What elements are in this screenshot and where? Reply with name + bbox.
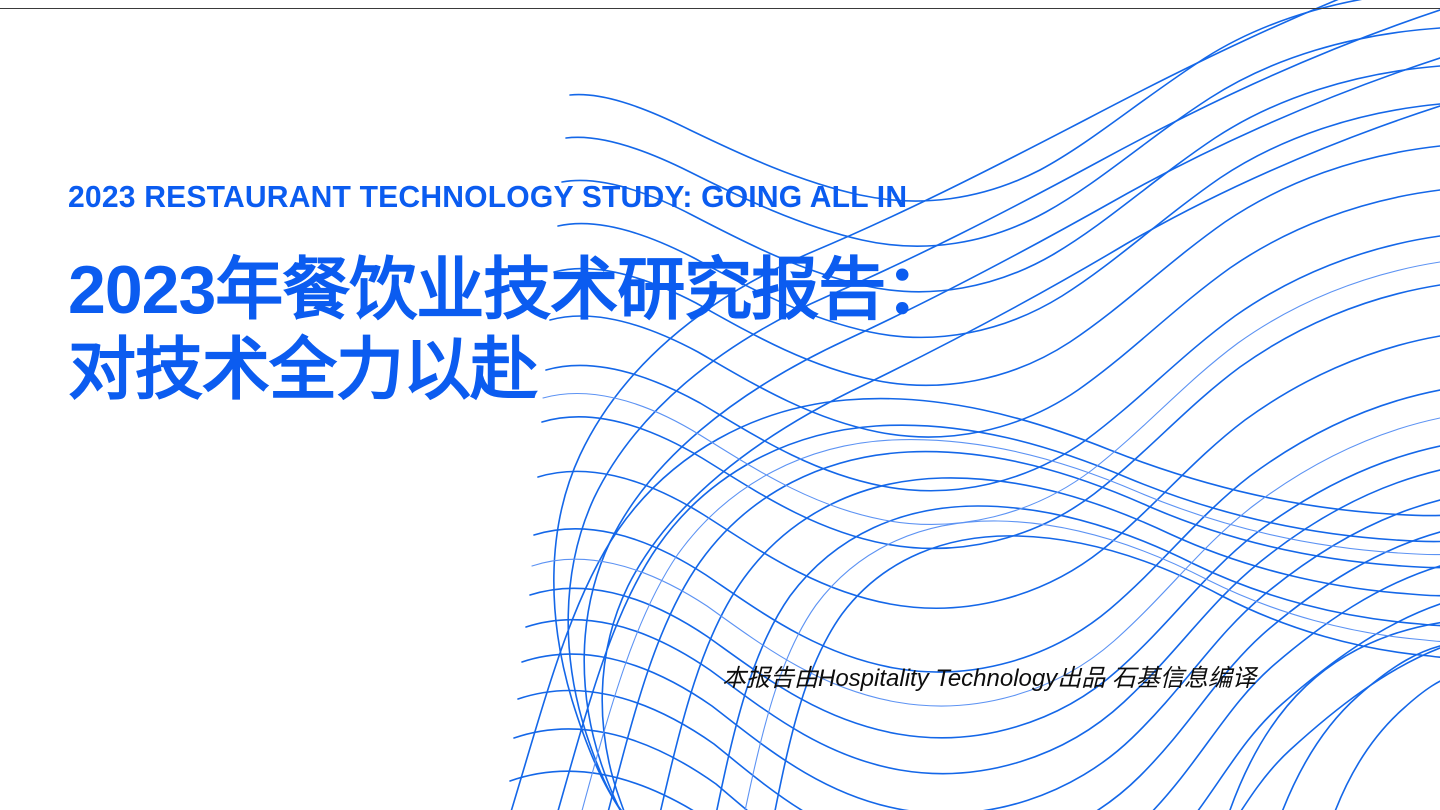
eyebrow-english-title: 2023 RESTAURANT TECHNOLOGY STUDY: GOING … [68,180,926,214]
credit-attribution-line: 本报告由Hospitality Technology出品 石基信息编译 [722,664,1256,694]
title-block: 2023 RESTAURANT TECHNOLOGY STUDY: GOING … [68,180,952,410]
top-divider-rule [0,8,1440,9]
page-title: 2023年餐饮业技术研究报告： 对技术全力以赴 [68,250,952,410]
report-cover-slide: 2023 RESTAURANT TECHNOLOGY STUDY: GOING … [0,0,1440,810]
